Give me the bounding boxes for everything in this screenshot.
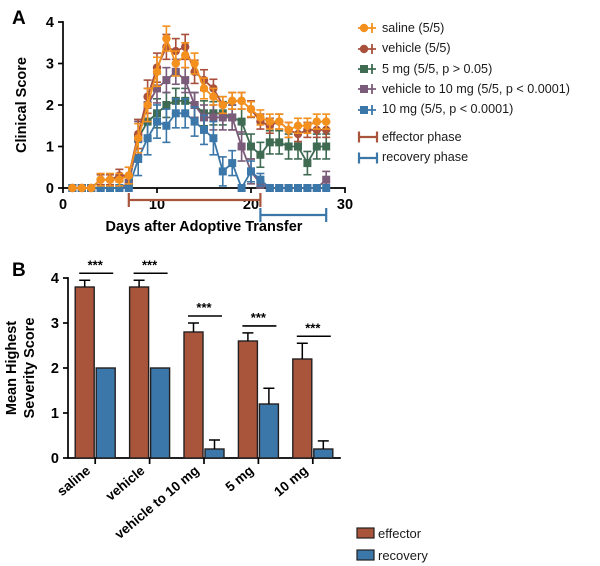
- data-point: [284, 126, 292, 134]
- panel-a: A 012340102030Clinical ScoreDays after A…: [0, 0, 600, 250]
- data-point: [313, 143, 321, 151]
- color-swatch-icon: [356, 526, 378, 540]
- panel-b-chart: 01234Mean HighestSeverity Score***saline…: [0, 250, 360, 554]
- data-point: [266, 184, 274, 192]
- bar-group: ***: [184, 300, 224, 458]
- ibeam-marker-icon: [356, 150, 382, 166]
- y-tick-label: 2: [51, 361, 59, 377]
- data-point: [191, 118, 199, 126]
- legend-label: vehicle to 10 mg (5/5, p < 0.0001): [382, 83, 570, 96]
- data-point: [134, 155, 142, 163]
- data-point: [256, 113, 264, 121]
- legend-item-vehicle-to-10mg: vehicle to 10 mg (5/5, p < 0.0001): [356, 79, 600, 99]
- data-point: [303, 122, 311, 130]
- data-point: [322, 117, 330, 125]
- y-tick-label: 4: [46, 15, 54, 31]
- legend-item-dose5mg: 5 mg (5/5, p > 0.05): [356, 59, 600, 79]
- y-tick-label: 1: [51, 406, 59, 422]
- data-point: [115, 176, 123, 184]
- data-point: [200, 84, 208, 92]
- svg-text:10 mg: 10 mg: [271, 463, 311, 500]
- svg-text:vehicle: vehicle: [103, 462, 148, 503]
- y-tick-label: 4: [51, 271, 59, 287]
- y-tick-label: 1: [46, 140, 54, 156]
- legend-label: recovery: [378, 549, 428, 562]
- panel-b-y-axis-title: Mean HighestSeverity Score: [4, 318, 38, 419]
- legend-label: recovery phase: [382, 151, 468, 164]
- legend-item-recovery: recovery: [356, 544, 600, 566]
- significance-stars: ***: [305, 320, 321, 335]
- series-line: [72, 47, 326, 188]
- data-point: [247, 167, 255, 175]
- significance-stars: ***: [142, 257, 158, 272]
- significance-stars: ***: [88, 257, 104, 272]
- data-point: [303, 184, 311, 192]
- data-point: [322, 143, 330, 151]
- data-point: [162, 122, 170, 130]
- data-point: [303, 159, 311, 167]
- bar-effector: [75, 287, 94, 458]
- significance-stars: ***: [196, 300, 212, 315]
- data-point: [96, 176, 104, 184]
- data-point: [143, 101, 151, 109]
- bar-effector: [130, 287, 149, 458]
- x-category-label: saline: [54, 462, 93, 498]
- data-point: [162, 34, 170, 42]
- data-point: [125, 171, 133, 179]
- x-tick-label: 30: [337, 197, 353, 213]
- y-tick-label: 0: [46, 181, 54, 197]
- data-point: [285, 143, 293, 151]
- bar-effector: [238, 341, 257, 458]
- data-point: [200, 126, 208, 134]
- data-point: [266, 117, 274, 125]
- color-swatch-icon: [356, 548, 378, 562]
- data-point: [125, 184, 133, 192]
- data-point: [275, 138, 283, 146]
- legend-item-vehicle: vehicle (5/5): [356, 38, 600, 58]
- y-tick-label: 2: [46, 98, 54, 114]
- panel-a-x-axis-title: Days after Adoptive Transfer: [106, 219, 303, 235]
- bar-effector: [293, 359, 312, 458]
- legend-label: vehicle (5/5): [382, 42, 451, 55]
- figure-root: A 012340102030Clinical ScoreDays after A…: [0, 0, 600, 554]
- x-tick-label: 0: [59, 197, 67, 213]
- significance-stars: ***: [251, 310, 267, 325]
- data-point: [247, 105, 255, 113]
- y-tick-label: 3: [46, 57, 54, 73]
- series-line: [72, 39, 326, 188]
- bar-group: ***: [293, 320, 333, 458]
- data-point: [181, 51, 189, 59]
- svg-text:saline: saline: [54, 462, 93, 498]
- data-point: [209, 93, 217, 101]
- circle-marker-icon: [356, 20, 382, 36]
- data-point: [275, 117, 283, 125]
- svg-text:5 mg: 5 mg: [223, 463, 257, 495]
- data-point: [238, 143, 246, 151]
- data-point: [209, 134, 217, 142]
- bar-recovery: [151, 368, 170, 458]
- data-point: [219, 113, 227, 121]
- data-point: [172, 109, 180, 117]
- data-point: [219, 167, 227, 175]
- bar-recovery: [205, 449, 224, 458]
- legend-label: 5 mg (5/5, p > 0.05): [382, 63, 492, 76]
- data-point: [181, 109, 189, 117]
- bar-group: ***: [75, 257, 115, 458]
- data-point: [247, 143, 255, 151]
- panel-a-legend: saline (5/5)vehicle (5/5)5 mg (5/5, p > …: [356, 18, 600, 168]
- x-category-label: vehicle: [103, 462, 148, 503]
- data-point: [313, 117, 321, 125]
- x-category-label: 5 mg: [223, 463, 257, 495]
- data-point: [322, 176, 330, 184]
- svg-text:Mean Highest: Mean Highest: [4, 321, 20, 415]
- panel-a-letter: A: [12, 8, 26, 30]
- bar-group: ***: [238, 310, 278, 458]
- bar-recovery: [314, 449, 333, 458]
- data-point: [162, 101, 170, 109]
- legend-label: effector: [378, 527, 421, 540]
- data-point: [238, 184, 246, 192]
- bar-recovery: [259, 404, 278, 458]
- data-point: [87, 184, 95, 192]
- series-vehicle: [68, 34, 330, 192]
- bar-group: ***: [130, 257, 170, 458]
- data-point: [256, 176, 264, 184]
- data-point: [162, 76, 170, 84]
- legend-item-effector: effector: [356, 522, 600, 544]
- square-marker-icon: [356, 102, 382, 118]
- square-marker-icon: [356, 61, 382, 77]
- ibeam-marker-icon: [356, 129, 382, 145]
- legend-item-recovery-phase: recovery phase: [356, 147, 600, 167]
- data-point: [106, 176, 114, 184]
- data-point: [134, 134, 142, 142]
- square-marker-icon: [356, 81, 382, 97]
- panel-b: B 01234Mean HighestSeverity Score***sali…: [0, 250, 600, 554]
- data-point: [237, 97, 245, 105]
- y-tick-label: 0: [51, 451, 59, 467]
- data-point: [275, 184, 283, 192]
- data-point: [238, 118, 246, 126]
- data-point: [228, 159, 236, 167]
- legend-label: effector phase: [382, 131, 462, 144]
- data-point: [172, 59, 180, 67]
- x-category-label: 10 mg: [271, 463, 311, 500]
- panel-b-legend: effectorrecovery: [356, 522, 600, 566]
- data-point: [266, 138, 274, 146]
- bar-effector: [184, 332, 203, 458]
- data-point: [209, 113, 217, 121]
- data-point: [256, 151, 264, 159]
- bar-recovery: [96, 368, 115, 458]
- y-tick-label: 3: [51, 316, 59, 332]
- panel-b-letter: B: [12, 260, 26, 282]
- legend-item-dose10mg: 10 mg (5/5, p < 0.0001): [356, 100, 600, 120]
- data-point: [219, 101, 227, 109]
- data-point: [313, 184, 321, 192]
- data-point: [228, 97, 236, 105]
- panel-a-y-axis-title: Clinical Score: [14, 57, 30, 153]
- data-point: [78, 184, 86, 192]
- data-point: [322, 184, 330, 192]
- data-point: [190, 59, 198, 67]
- data-point: [294, 122, 302, 130]
- data-point: [68, 184, 76, 192]
- data-point: [294, 184, 302, 192]
- legend-item-saline: saline (5/5): [356, 18, 600, 38]
- data-point: [181, 76, 189, 84]
- circle-marker-icon: [356, 41, 382, 57]
- data-point: [294, 143, 302, 151]
- panel-a-chart: 012340102030Clinical ScoreDays after Ado…: [0, 0, 360, 250]
- data-point: [285, 184, 293, 192]
- legend-label: 10 mg (5/5, p < 0.0001): [382, 103, 513, 116]
- legend-label: saline (5/5): [382, 22, 444, 35]
- data-point: [153, 68, 161, 76]
- legend-item-effector-phase: effector phase: [356, 127, 600, 147]
- data-point: [144, 134, 152, 142]
- data-point: [153, 118, 161, 126]
- data-point: [228, 113, 236, 121]
- svg-text:Severity Score: Severity Score: [22, 318, 38, 419]
